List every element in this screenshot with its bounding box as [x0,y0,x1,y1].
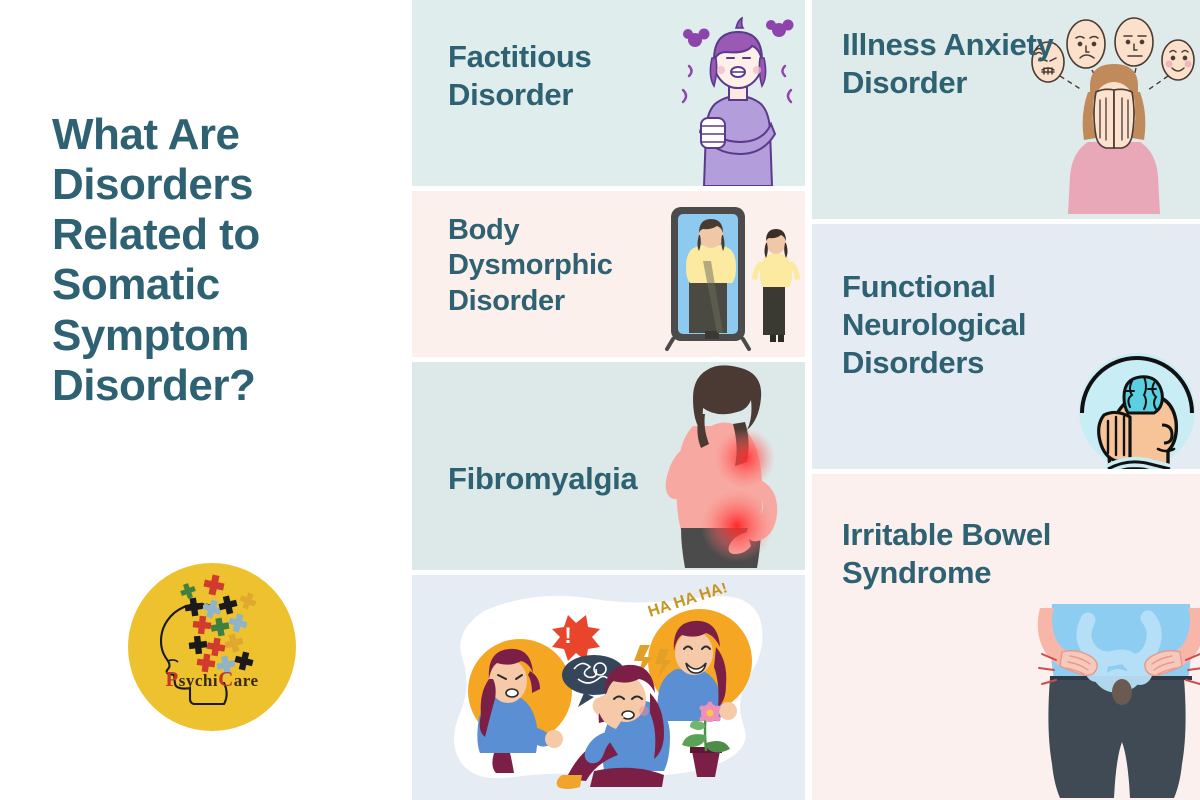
left-title-panel: What Are Disorders Related to Somatic Sy… [0,0,412,800]
card-factitious-disorder[interactable]: Factitious Disorder [412,0,805,186]
head-with-puzzle-pieces-icon [128,563,296,731]
card-label: Fibromyalgia [448,460,698,498]
middle-card-column: Factitious Disorder [412,0,805,800]
right-card-column: Illness Anxiety Disorder [812,0,1200,800]
card-label: Irritable Bowel Syndrome [842,516,1092,592]
abdomen-intestine-pain-illustration [1036,604,1200,800]
emotional-distress-group-illustration: ! [444,583,774,795]
card-irritable-bowel-syndrome[interactable]: Irritable Bowel Syndrome [812,474,1200,800]
logo-wordmark: PsychiCare [128,667,296,692]
card-label: Functional Neurological Disorders [842,268,1102,381]
card-label: Illness Anxiety Disorder [842,26,1072,102]
card-label: Body Dysmorphic Disorder [448,213,678,319]
card-body-dysmorphic-disorder[interactable]: Body Dysmorphic Disorder [412,191,805,357]
card-label: Factitious Disorder [448,38,698,114]
card-illness-anxiety-disorder[interactable]: Illness Anxiety Disorder [812,0,1200,219]
woman-mirror-reflection-illustration [657,199,805,351]
card-functional-neurological-disorders[interactable]: Functional Neurological Disorders [812,224,1200,469]
card-emotional-distress-illustration[interactable]: ! [412,575,805,800]
page-title: What Are Disorders Related to Somatic Sy… [52,110,382,411]
card-fibromyalgia[interactable]: Fibromyalgia [412,362,805,570]
brand-logo: PsychiCare [128,563,296,731]
svg-text:!: ! [564,623,571,648]
infographic-page: What Are Disorders Related to Somatic Sy… [0,0,1200,800]
